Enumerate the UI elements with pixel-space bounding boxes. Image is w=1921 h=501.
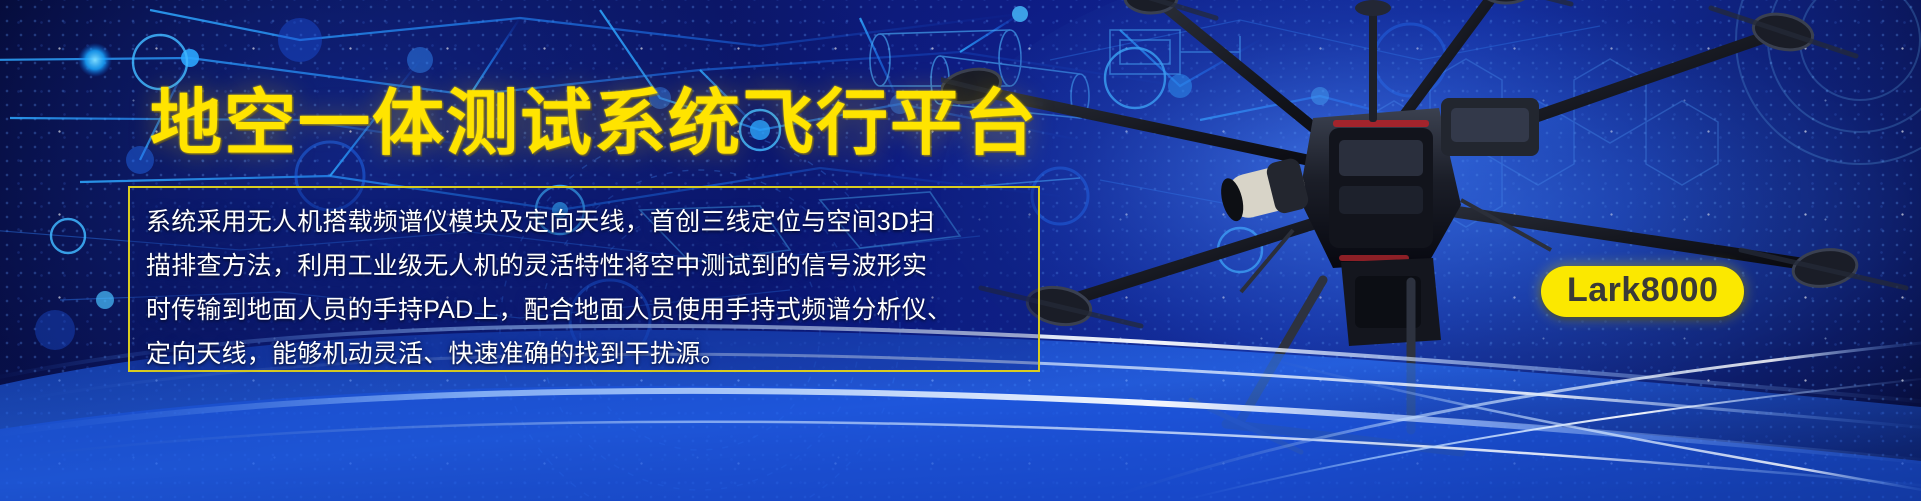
description-line-3: 时传输到地面人员的手持PAD上，配合地面人员使用手持式频谱分析仪、 [146,288,1022,332]
description-line-4: 定向天线，能够机动灵活、快速准确的找到干扰源。 [146,332,1022,376]
description-line-1: 系统采用无人机搭载频谱仪模块及定向天线，首创三线定位与空间3D扫 [146,200,1022,244]
promo-banner: 地空一体测试系统飞行平台 系统采用无人机搭载频谱仪模块及定向天线，首创三线定位与… [0,0,1921,501]
description-line-2: 描排查方法，利用工业级无人机的灵活特性将空中测试到的信号波形实 [146,244,1022,288]
product-model-badge: Lark8000 [1541,266,1744,317]
page-title: 地空一体测试系统飞行平台 [150,88,1038,160]
description-box: 系统采用无人机搭载频谱仪模块及定向天线，首创三线定位与空间3D扫 描排查方法，利… [128,186,1040,372]
